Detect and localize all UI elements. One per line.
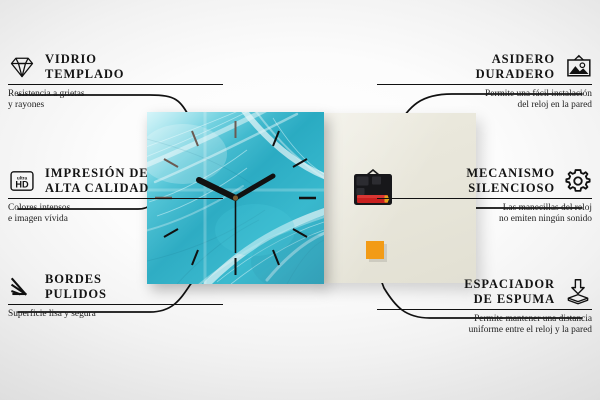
ultra-hd-icon: ultra HD — [8, 167, 36, 195]
feature-divider — [377, 309, 592, 310]
feature-asidero-duradero: ASIDERO DURADERO Permite una fácil insta… — [377, 52, 592, 112]
polished-edges-icon — [8, 273, 36, 301]
feature-description: Permite mantener una distancia uniforme … — [377, 314, 592, 337]
feature-description: Permite una fácil instalación del reloj … — [377, 89, 592, 112]
feature-description: Colores intensos e imagen vívida — [8, 203, 223, 226]
gear-icon — [564, 167, 592, 195]
feature-divider — [8, 84, 223, 85]
svg-text:HD: HD — [15, 179, 29, 189]
feature-title: VIDRIO TEMPLADO — [45, 52, 124, 81]
feature-divider — [377, 84, 592, 85]
feature-divider — [8, 304, 223, 305]
feature-title: IMPRESIÓN DE ALTA CALIDAD — [45, 166, 149, 195]
feature-bordes-pulidos: BORDES PULIDOS Superficie lisa y segura — [8, 272, 223, 320]
feature-impresion-alta-calidad: ultra HD IMPRESIÓN DE ALTA CALIDAD Color… — [8, 166, 223, 226]
feature-divider — [377, 198, 592, 199]
feature-vidrio-templado: VIDRIO TEMPLADO Resistencia a grietas y … — [8, 52, 223, 112]
feature-description: Superficie lisa y segura — [8, 309, 223, 320]
feature-title: BORDES PULIDOS — [45, 272, 107, 301]
feature-description: Resistencia a grietas y rayones — [8, 89, 223, 112]
feature-title: ASIDERO DURADERO — [476, 52, 555, 81]
foam-spacer-icon — [564, 278, 592, 306]
feature-divider — [8, 198, 223, 199]
feature-description: Las manecillas del reloj no emiten ningú… — [377, 203, 592, 226]
infographic-canvas: VIDRIO TEMPLADO Resistencia a grietas y … — [0, 0, 600, 400]
feature-title: ESPACIADOR DE ESPUMA — [464, 277, 555, 306]
foam-spacer-piece — [366, 241, 384, 259]
feature-espaciador-de-espuma: ESPACIADOR DE ESPUMA Permite mantener un… — [377, 277, 592, 337]
feature-mecanismo-silencioso: MECANISMO SILENCIOSO Las manecillas del … — [377, 166, 592, 226]
feature-title: MECANISMO SILENCIOSO — [466, 166, 555, 195]
diamond-icon — [8, 53, 36, 81]
picture-frame-hanger-icon — [564, 53, 592, 81]
